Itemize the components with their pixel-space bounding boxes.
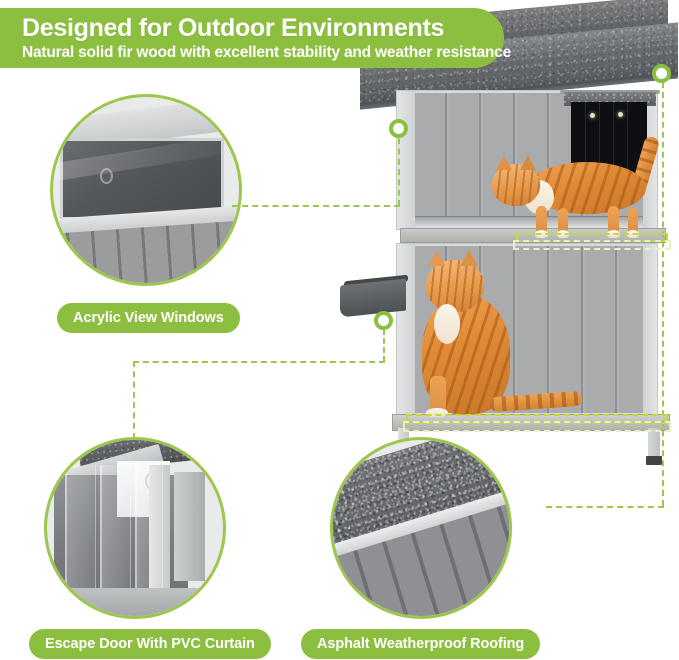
infographic-canvas: Acrylic View Windows Escape Door With PV…	[0, 0, 679, 660]
header-title: Designed for Outdoor Environments	[22, 14, 488, 43]
pvc-curtain-strip-3	[135, 465, 163, 606]
cat-lower-chest	[434, 304, 460, 344]
upper-platform-highlight-outer	[513, 240, 671, 250]
connector-acrylic-horizontal	[232, 205, 400, 207]
connector-escape-vertical-b	[133, 361, 135, 439]
callout-label-escape-door[interactable]: Escape Door With PVC Curtain	[29, 629, 271, 659]
callout-label-text-acrylic: Acrylic View Windows	[73, 310, 224, 326]
marker-acrylic-windows[interactable]	[389, 119, 408, 138]
pvc-curtain-strip-2	[100, 465, 132, 606]
inset-acrylic-view-windows	[50, 94, 242, 286]
lower-frame-right	[643, 244, 657, 417]
lower-platform-highlight-outer	[403, 421, 671, 432]
pvc-curtain-strip-1	[65, 465, 97, 606]
foot-right	[646, 456, 662, 465]
inset-escape-door-pvc-curtain	[44, 437, 226, 619]
cat-upper-head	[492, 164, 540, 206]
header-subtitle: Natural solid fir wood with excellent st…	[22, 43, 488, 63]
header-banner: Designed for Outdoor Environments Natura…	[0, 8, 504, 68]
marker-escape-door[interactable]	[374, 311, 393, 330]
connector-roofing-vertical	[662, 82, 664, 506]
connector-acrylic-vertical	[398, 128, 400, 206]
cat-upper-ear-left	[496, 156, 512, 170]
connector-escape-horizontal	[133, 361, 385, 363]
cat-lower-head	[426, 260, 484, 312]
callout-label-text-escape-door: Escape Door With PVC Curtain	[45, 636, 255, 652]
connector-roofing-horizontal	[546, 506, 664, 508]
cat-lower-ear-right	[460, 250, 478, 266]
callout-label-asphalt-roofing[interactable]: Asphalt Weatherproof Roofing	[301, 629, 540, 659]
pvc-side-wall	[174, 472, 206, 581]
acrylic-window-pane	[60, 138, 224, 220]
cat-upper	[480, 132, 670, 237]
cat-lower-ear-left	[428, 251, 446, 266]
callout-label-acrylic-view-windows[interactable]: Acrylic View Windows	[57, 303, 240, 333]
inset-asphalt-weatherproof-roofing	[330, 437, 512, 619]
marker-roofing[interactable]	[652, 64, 671, 83]
cat-upper-ear-right	[520, 155, 536, 170]
callout-label-text-asphalt: Asphalt Weatherproof Roofing	[317, 636, 524, 652]
pvc-floor	[47, 588, 223, 616]
cat-lower	[408, 248, 598, 420]
acrylic-window-knob	[100, 168, 113, 184]
